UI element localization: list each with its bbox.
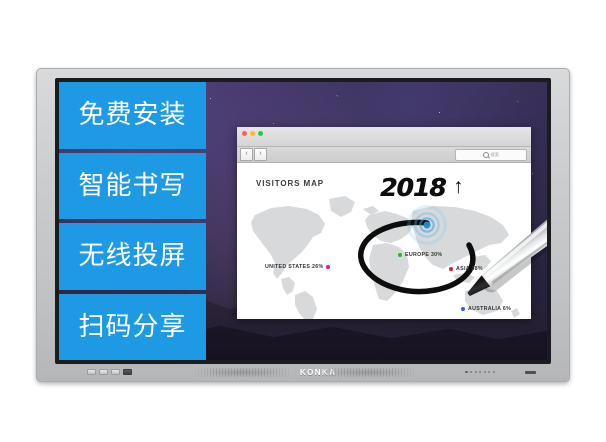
map-label-europe: EUROPE 30%	[398, 252, 442, 258]
window-controls	[242, 131, 263, 136]
map-marker-dot	[461, 307, 465, 311]
bezel-control-buttons[interactable]	[87, 369, 132, 375]
minimize-icon[interactable]	[250, 131, 255, 136]
map-marker-dot	[449, 267, 453, 271]
browser-toolbar: ‹ › 搜索	[237, 147, 531, 163]
map-label-asia: ASIA 38%	[449, 266, 483, 272]
feature-block-smart-writing[interactable]: 智能书写	[59, 153, 206, 220]
indicator-leds	[465, 371, 495, 374]
map-label-text: EUROPE 30%	[405, 252, 442, 258]
back-icon[interactable]: ‹	[240, 148, 253, 161]
konka-interactive-display: 免费安装 智能书写 无线投屏 扫码分享	[36, 68, 570, 382]
ir-receiver	[525, 371, 536, 374]
screen-frame: 免费安装 智能书写 无线投屏 扫码分享	[55, 78, 551, 364]
map-marker-dot	[326, 265, 330, 269]
indicator-dot	[470, 371, 472, 373]
speaker-grille-right	[320, 368, 416, 377]
bezel-button-3[interactable]	[111, 369, 120, 375]
map-label-australia: AUSTRALIA 6%	[461, 306, 511, 312]
browser-titlebar[interactable]	[237, 127, 531, 147]
display-screen: 免费安装 智能书写 无线投屏 扫码分享	[59, 82, 547, 360]
search-input[interactable]: 搜索	[455, 149, 527, 161]
feature-block-wireless-casting[interactable]: 无线投屏	[59, 223, 206, 290]
search-icon	[483, 152, 489, 158]
map-label-text: ASIA 38%	[456, 266, 483, 272]
close-icon[interactable]	[242, 131, 247, 136]
feature-highlight-panel: 免费安装 智能书写 无线投屏 扫码分享	[59, 82, 206, 360]
map-label-text: AUSTRALIA 6%	[468, 306, 511, 312]
feature-block-qr-sharing[interactable]: 扫码分享	[59, 294, 206, 361]
indicator-dot	[484, 371, 486, 373]
forward-icon[interactable]: ›	[254, 148, 267, 161]
up-arrow-icon: ↑	[453, 176, 464, 197]
power-button[interactable]	[123, 369, 132, 375]
indicator-dot	[493, 371, 495, 373]
bezel-button-1[interactable]	[87, 369, 96, 375]
map-label-text: UNITED STATES 26%	[265, 264, 323, 270]
indicator-dot	[479, 371, 481, 373]
browser-window[interactable]: ‹ › 搜索 VISITORS MAP	[237, 127, 531, 319]
feature-block-free-installation[interactable]: 免费安装	[59, 82, 206, 149]
map-label-united-states: UNITED STATES 26%	[265, 264, 330, 270]
maximize-icon[interactable]	[258, 131, 263, 136]
bezel-button-2[interactable]	[99, 369, 108, 375]
map-marker-dot	[398, 253, 402, 257]
search-placeholder: 搜索	[491, 152, 499, 158]
bottom-bezel: KONKA	[55, 364, 551, 380]
year-annotation: 2018	[380, 175, 446, 200]
indicator-dot	[475, 371, 477, 373]
indicator-dot	[488, 371, 490, 373]
indicator-dot	[465, 371, 468, 374]
navigation-buttons: ‹ ›	[240, 148, 267, 161]
slide-canvas: VISITORS MAP	[237, 163, 531, 319]
touch-ripple-effect	[407, 205, 447, 245]
speaker-grille-left	[195, 368, 291, 377]
